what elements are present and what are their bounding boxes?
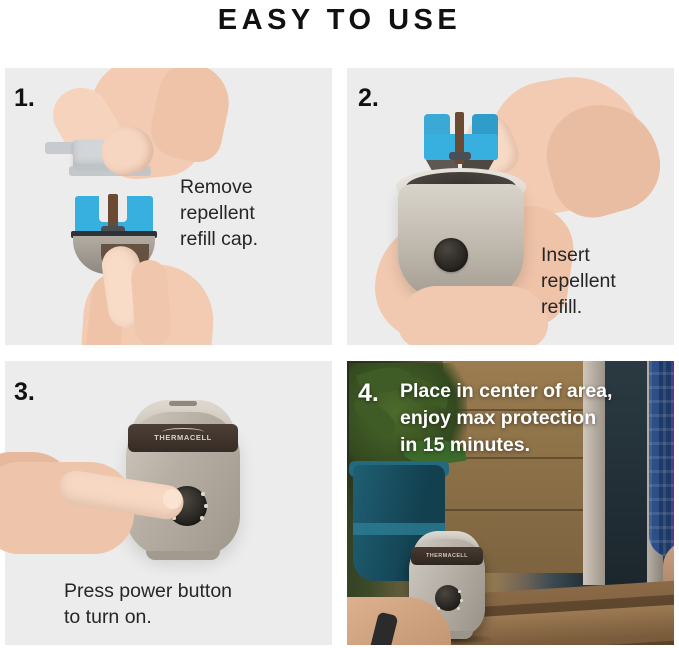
lower-finger-2 [130, 259, 172, 345]
refill-foot [449, 152, 471, 160]
step-panel-1 [5, 68, 332, 345]
step-1-number: 1. [14, 84, 35, 113]
power-button[interactable] [434, 238, 468, 272]
led-indicator-3 [457, 607, 460, 610]
step-2-caption: Insert repellent refill. [541, 242, 616, 320]
step-2-number: 2. [358, 84, 379, 113]
step-2-illustration [347, 68, 674, 345]
step-4-caption: Place in center of area, enjoy max prote… [400, 378, 665, 459]
fence-seam [443, 509, 585, 511]
page-title: EASY TO USE [0, 4, 679, 37]
brand-logo: THERMACELL [425, 551, 469, 561]
led-indicator-1 [458, 590, 461, 593]
step-1-caption: Remove repellent refill cap. [180, 174, 258, 252]
step-3-number: 3. [14, 378, 35, 407]
step-4-number: 4. [358, 379, 379, 408]
led-indicator-2 [460, 599, 463, 602]
step-1-illustration [5, 68, 332, 345]
infographic-root: EASY TO USE 1. Remove repellent refill c… [0, 0, 679, 648]
supporting-fingers [398, 286, 548, 345]
step-3-caption: Press power button to turn on. [64, 578, 232, 630]
